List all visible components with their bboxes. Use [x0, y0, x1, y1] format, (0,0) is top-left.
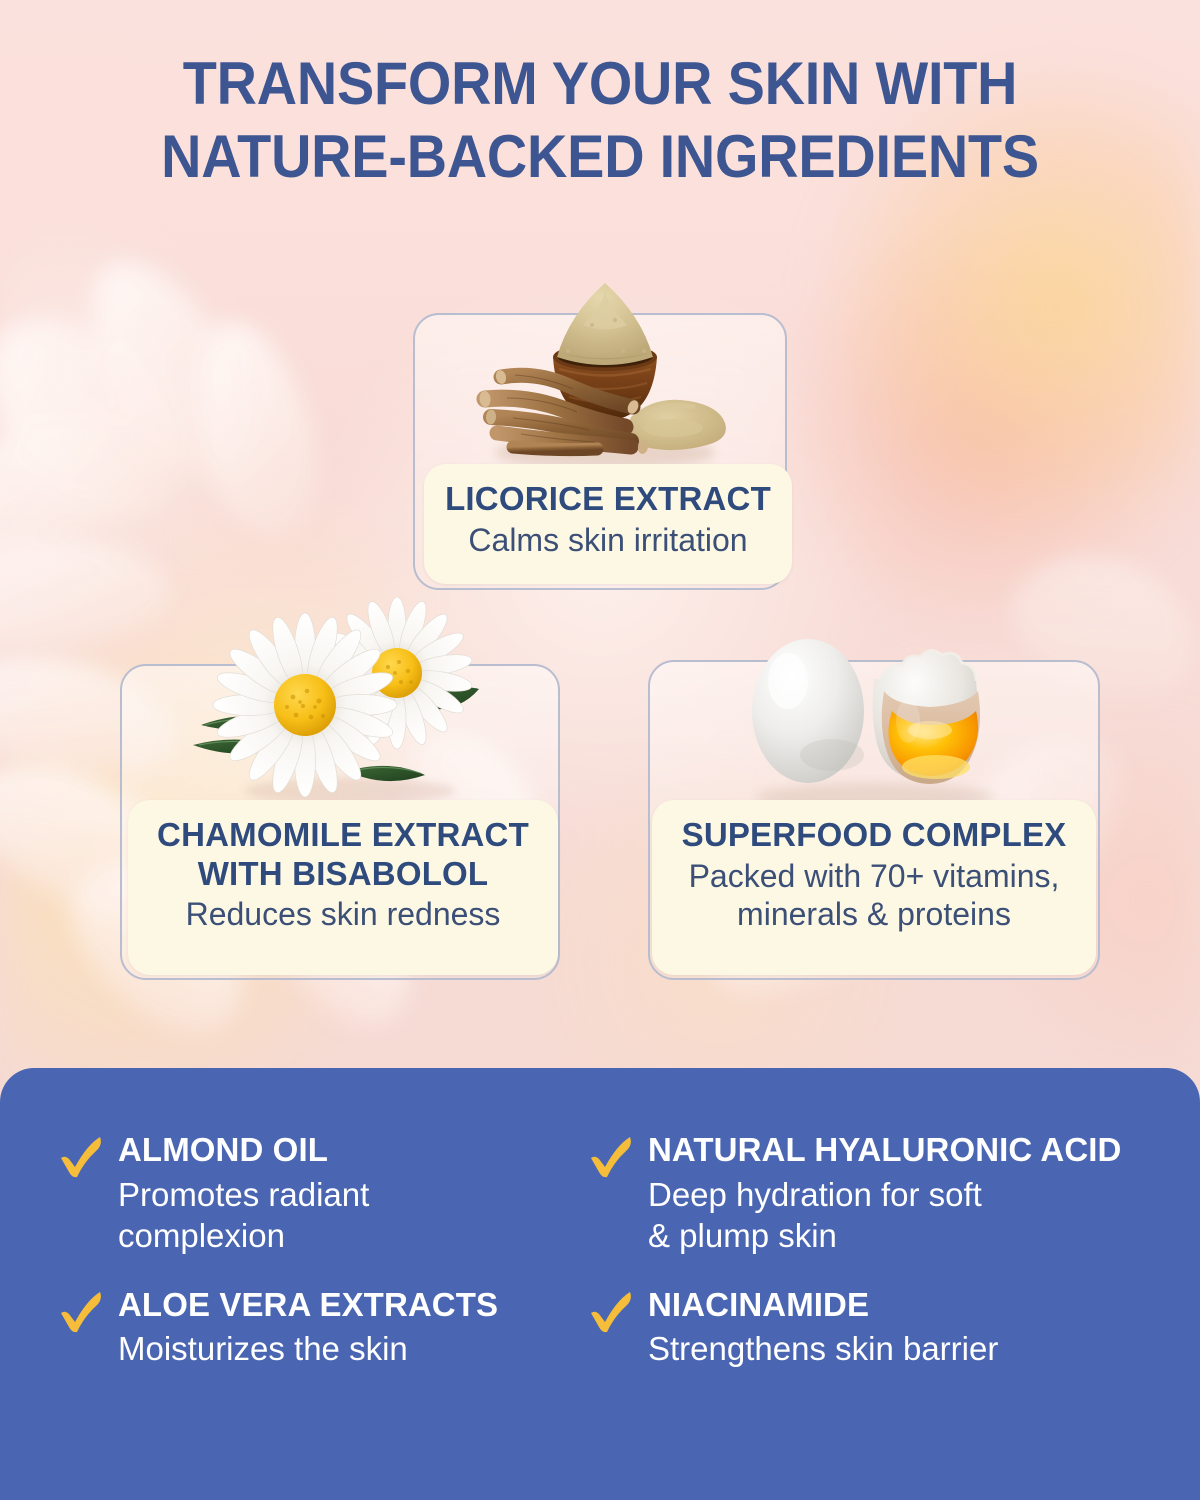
benefit-title: ALMOND OIL [118, 1131, 328, 1168]
benefits-grid: ALMOND OIL Promotes radiant complexion N… [56, 1130, 1160, 1370]
licorice-subtitle: Calms skin irritation [442, 521, 774, 559]
licorice-title: LICORICE EXTRACT [442, 480, 774, 519]
benefit-desc-line-1: Moisturizes the skin [118, 1328, 498, 1370]
benefit-text-aloe-vera: ALOE VERA EXTRACTS Moisturizes the skin [118, 1285, 498, 1370]
benefit-text-niacinamide: NIACINAMIDE Strengthens skin barrier [648, 1285, 998, 1370]
chamomile-title-line-2: WITH BISABOLOL [146, 855, 540, 894]
check-icon [56, 1289, 102, 1335]
benefit-desc-line-1: Promotes radiant [118, 1174, 369, 1216]
chamomile-label-panel: CHAMOMILE EXTRACT WITH BISABOLOL Reduces… [128, 800, 558, 975]
check-icon [586, 1134, 632, 1180]
chamomile-subtitle: Reduces skin redness [146, 895, 540, 933]
benefit-desc-line-2: & plump skin [648, 1215, 1121, 1257]
superfood-subtitle-line-2: minerals & proteins [670, 895, 1078, 933]
check-icon [586, 1289, 632, 1335]
superfood-title: SUPERFOOD COMPLEX [670, 816, 1078, 855]
check-icon [56, 1134, 102, 1180]
superfood-label-panel: SUPERFOOD COMPLEX Packed with 70+ vitami… [652, 800, 1096, 975]
superfood-subtitle-line-1: Packed with 70+ vitamins, [670, 857, 1078, 895]
benefit-item-almond-oil: ALMOND OIL Promotes radiant complexion [56, 1130, 572, 1257]
licorice-label-panel: LICORICE EXTRACT Calms skin irritation [424, 464, 792, 584]
benefit-title: NATURAL HYALURONIC ACID [648, 1131, 1121, 1168]
benefit-text-almond-oil: ALMOND OIL Promotes radiant complexion [118, 1130, 369, 1257]
benefit-desc-line-1: Strengthens skin barrier [648, 1328, 998, 1370]
page-title-line-2: NATURE-BACKED INGREDIENTS [42, 121, 1158, 194]
benefit-desc-line-1: Deep hydration for soft [648, 1174, 1121, 1216]
benefits-panel: ALMOND OIL Promotes radiant complexion N… [0, 1068, 1200, 1500]
page-title: TRANSFORM YOUR SKIN WITH NATURE-BACKED I… [42, 48, 1158, 193]
benefit-item-niacinamide: NIACINAMIDE Strengthens skin barrier [586, 1285, 1160, 1370]
page-title-line-1: TRANSFORM YOUR SKIN WITH [42, 48, 1158, 121]
benefit-text-hyaluronic-acid: NATURAL HYALURONIC ACID Deep hydration f… [648, 1130, 1121, 1257]
chamomile-title-line-1: CHAMOMILE EXTRACT [146, 816, 540, 855]
benefit-item-aloe-vera: ALOE VERA EXTRACTS Moisturizes the skin [56, 1285, 572, 1370]
benefit-desc-line-2: complexion [118, 1215, 369, 1257]
benefit-title: ALOE VERA EXTRACTS [118, 1286, 498, 1323]
benefit-item-hyaluronic-acid: NATURAL HYALURONIC ACID Deep hydration f… [586, 1130, 1160, 1257]
ingredient-infographic-poster: TRANSFORM YOUR SKIN WITH NATURE-BACKED I… [0, 0, 1200, 1500]
benefit-title: NIACINAMIDE [648, 1286, 869, 1323]
